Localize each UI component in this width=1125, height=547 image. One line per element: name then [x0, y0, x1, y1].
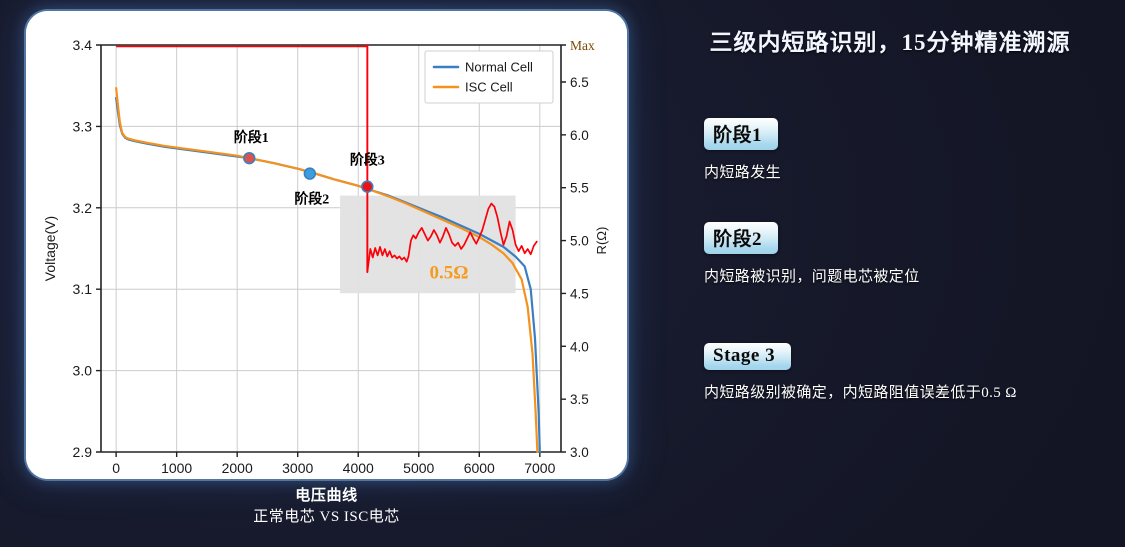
legend-label-2[interactable]: ISC Cell: [465, 80, 513, 95]
caption-title: 电压曲线: [26, 486, 627, 507]
info-panel: 三级内短路识别，15分钟精准溯源 阶段1 内短路发生 阶段2 内短路被识别，问题…: [655, 0, 1125, 547]
panel-title: 三级内短路识别，15分钟精准溯源: [655, 23, 1125, 57]
y-axis-label: Voltage(V): [42, 216, 58, 281]
y2tick-label: 6.0: [570, 128, 589, 143]
stage-block-3: Stage 3 内短路级别被确定，内短路阻值误差低于0.5 Ω: [704, 343, 1124, 402]
stage-desc-2: 内短路被识别，问题电芯被定位: [704, 265, 1124, 286]
xtick-label: 7000: [524, 460, 555, 476]
y2-max-label: Max: [570, 38, 595, 53]
xtick-label: 6000: [464, 460, 495, 476]
y2tick-label: 5.5: [570, 181, 589, 196]
xtick-label: 0: [112, 460, 120, 476]
stage-desc-3: 内短路级别被确定，内短路阻值误差低于0.5 Ω: [704, 381, 1124, 402]
y2tick-label: 5.0: [570, 234, 589, 249]
ytick-label: 3.0: [73, 363, 93, 379]
voltage-curve-chart: 2.93.03.13.23.33.43.03.54.04.55.05.56.06…: [26, 11, 627, 479]
ytick-label: 3.3: [73, 118, 93, 134]
stage-badge-3: Stage 3: [704, 343, 791, 370]
ytick-label: 3.1: [73, 281, 93, 297]
xtick-label: 3000: [282, 460, 313, 476]
caption-subtitle: 正常电芯 VS ISC电芯: [26, 507, 627, 528]
xtick-label: 4000: [343, 460, 374, 476]
legend-label-1[interactable]: Normal Cell: [465, 60, 533, 75]
stage-marker-label-1: 阶段1: [234, 129, 269, 146]
xtick-label: 5000: [403, 460, 434, 476]
stage-marker-2: [304, 168, 315, 179]
y2tick-label: 4.5: [570, 286, 589, 301]
stage-marker-1: [244, 153, 255, 164]
stage-badge-1: 阶段1: [704, 118, 778, 150]
chart-legend[interactable]: Normal CellISC Cell: [425, 51, 553, 103]
slide-root: 2.93.03.13.23.33.43.03.54.04.55.05.56.06…: [0, 0, 1125, 547]
stage-marker-label-3: 阶段3: [350, 152, 385, 169]
chart-plot-area: 2.93.03.13.23.33.43.03.54.04.55.05.56.06…: [26, 11, 627, 479]
y2tick-label: 3.5: [570, 392, 589, 407]
xtick-label: 2000: [222, 460, 253, 476]
y2tick-label: 4.0: [570, 339, 589, 354]
stage-badge-2: 阶段2: [704, 222, 778, 254]
chart-caption: 电压曲线 正常电芯 VS ISC电芯: [26, 486, 627, 527]
y2tick-label: 6.5: [570, 75, 589, 90]
y2tick-label: 3.0: [570, 445, 589, 460]
ytick-label: 2.9: [73, 444, 93, 460]
stage-block-2: 阶段2 内短路被识别，问题电芯被定位: [704, 222, 1124, 286]
resistance-error-annotation: 0.5Ω: [430, 263, 469, 284]
xtick-label: 1000: [161, 460, 192, 476]
stage-marker-label-2: 阶段2: [294, 191, 329, 208]
stage-desc-1: 内短路发生: [704, 161, 1124, 182]
stage-block-1: 阶段1 内短路发生: [704, 118, 1124, 182]
chart-card: 2.93.03.13.23.33.43.03.54.04.55.05.56.06…: [26, 11, 627, 479]
ytick-label: 3.2: [73, 200, 93, 216]
ytick-label: 3.4: [73, 37, 93, 53]
stage-marker-3: [362, 181, 373, 192]
y2-axis-label: R(Ω): [594, 227, 609, 255]
